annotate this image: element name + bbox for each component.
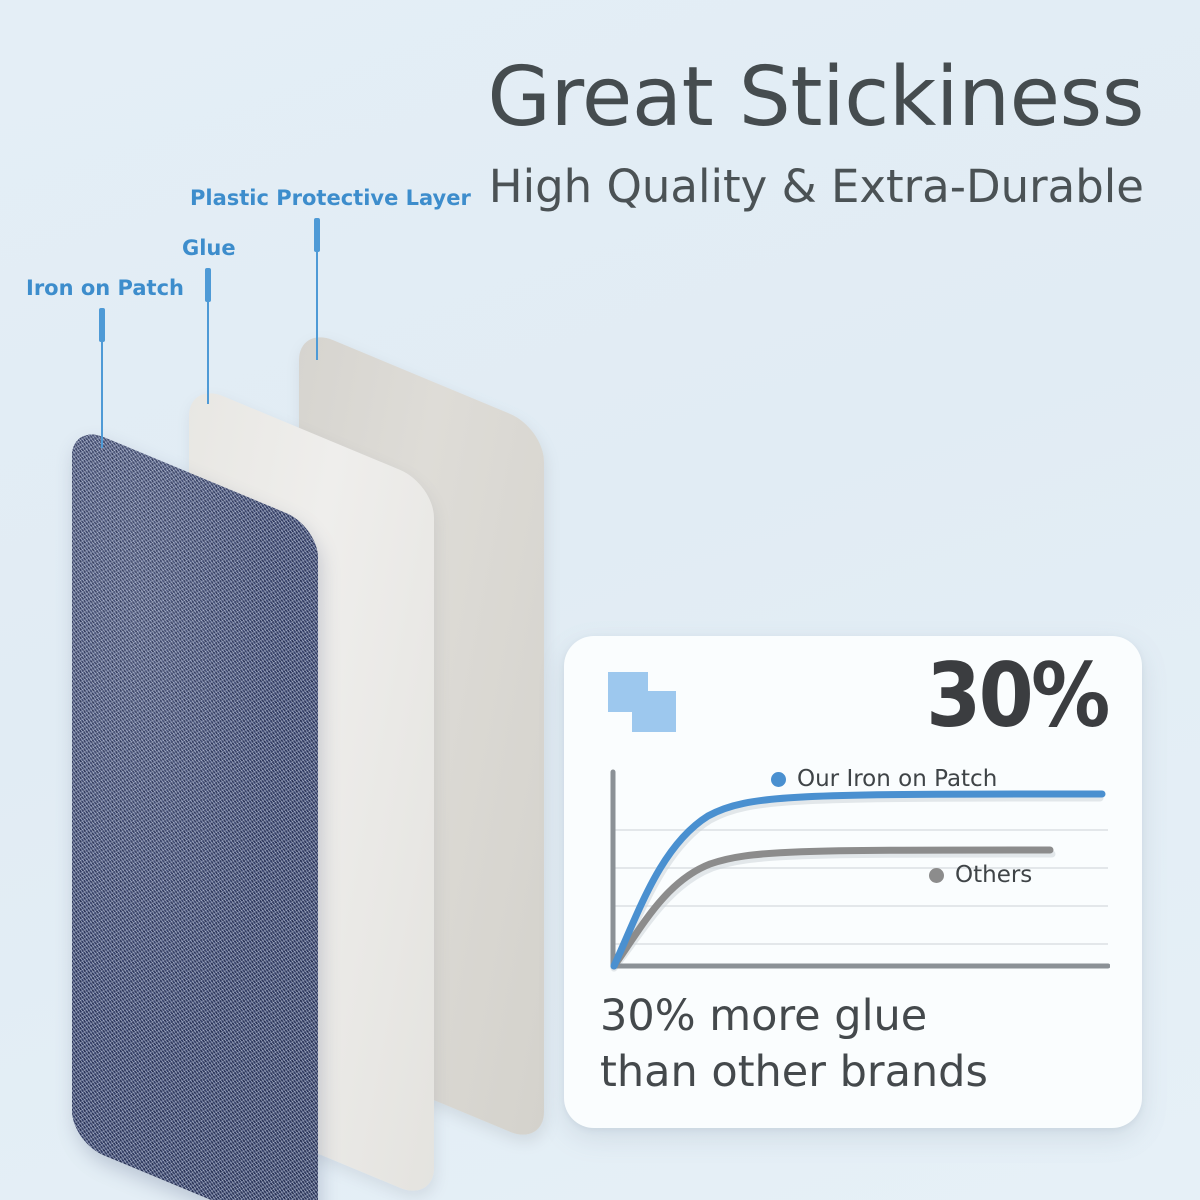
- square-front-shape: [632, 691, 676, 732]
- legend-label-others: Others: [955, 862, 1032, 888]
- legend-item-our-iron-on-patch: Our Iron on Patch: [771, 766, 997, 792]
- caption-line-2: than other brands: [600, 1044, 988, 1100]
- card-caption: 30% more glue than other brands: [600, 988, 988, 1100]
- legend-label-ours: Our Iron on Patch: [797, 766, 997, 792]
- legend-item-others: Others: [929, 862, 1032, 888]
- leader-line-glue: [207, 268, 209, 404]
- stats-card: 30%: [564, 636, 1142, 1128]
- chart-svg: [600, 758, 1110, 986]
- caption-line-1: 30% more glue: [600, 988, 988, 1044]
- product-layer-iron-on-patch: [72, 424, 318, 1200]
- stat-percentage: 30%: [927, 648, 1108, 744]
- leader-cap-icon: [314, 218, 320, 252]
- infographic-canvas: Great Stickiness High Quality & Extra-Du…: [0, 0, 1200, 1200]
- callout-label-glue: Glue: [182, 236, 236, 260]
- leader-line-plastic-protective-layer: [316, 218, 318, 360]
- headline-block: Great Stickiness High Quality & Extra-Du…: [384, 52, 1144, 216]
- leader-line-iron-on-patch: [101, 308, 103, 448]
- callout-label-iron-on-patch: Iron on Patch: [26, 276, 184, 300]
- legend-dot-blue-icon: [771, 772, 786, 787]
- page-subtitle: High Quality & Extra-Durable: [384, 158, 1144, 216]
- leader-cap-icon: [99, 308, 105, 342]
- callout-label-plastic-protective-layer: Plastic Protective Layer: [190, 186, 471, 210]
- leader-cap-icon: [205, 268, 211, 302]
- page-title: Great Stickiness: [384, 52, 1144, 144]
- glue-performance-chart: [600, 758, 1110, 986]
- legend-dot-gray-icon: [929, 868, 944, 883]
- two-squares-icon: [608, 672, 684, 732]
- denim-texture: [72, 424, 318, 1200]
